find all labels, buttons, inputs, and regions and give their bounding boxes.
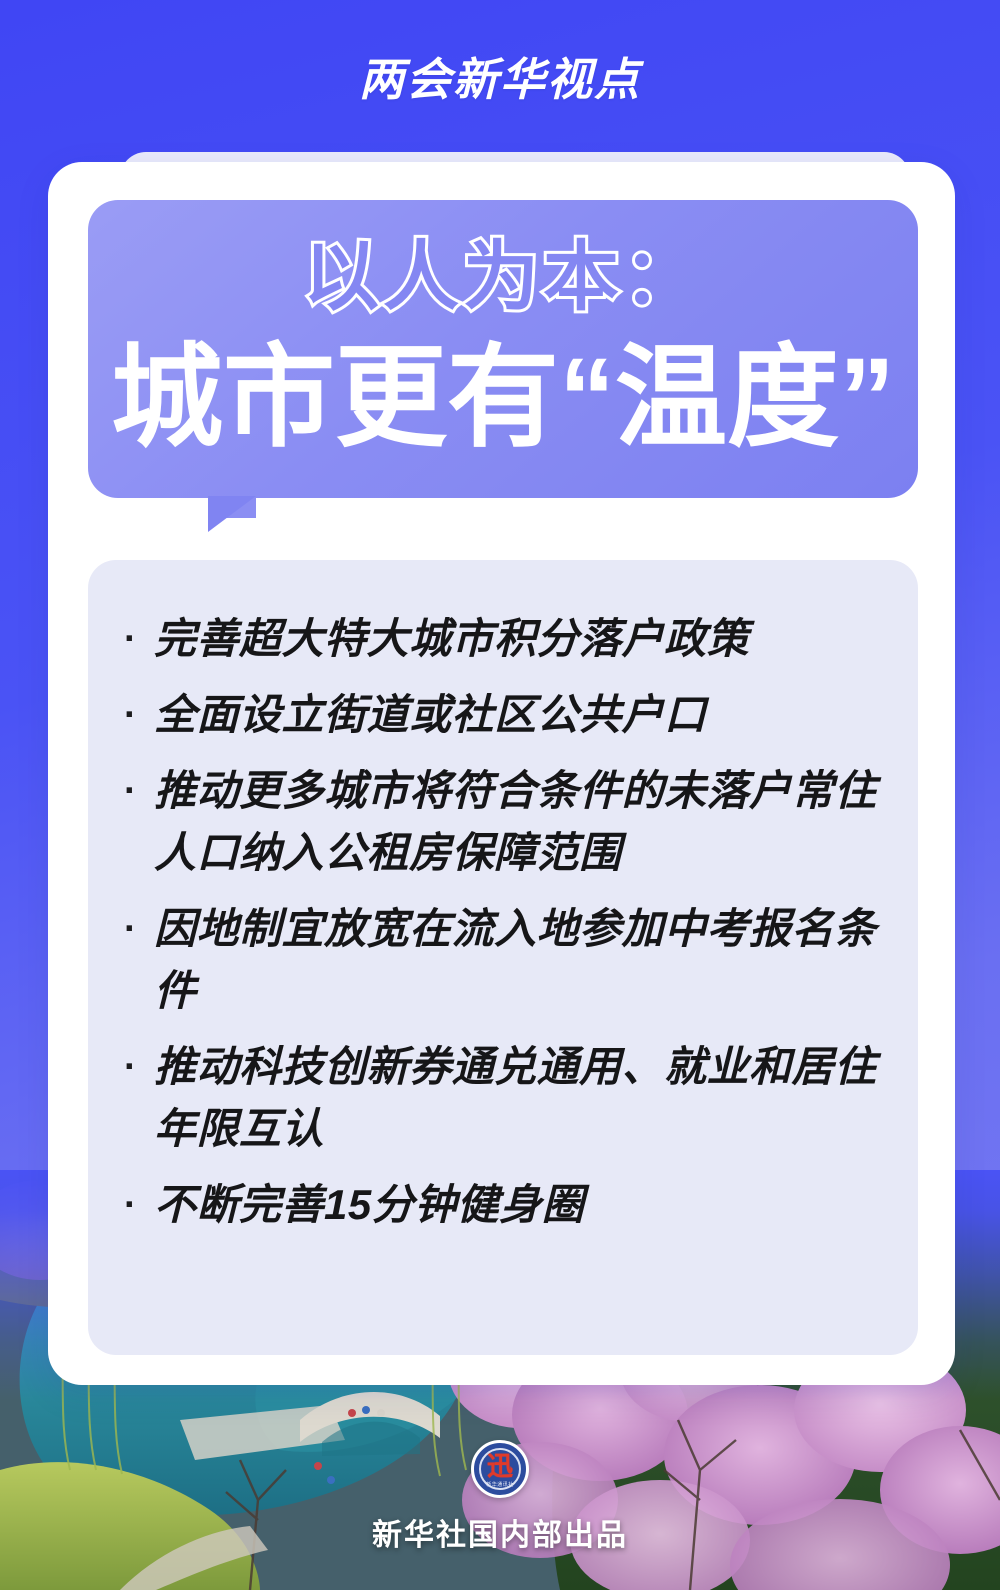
list-item: · 推动科技创新券通兑通用、就业和居住年限互认 [124,1036,894,1160]
bullet-marker-icon: · [124,898,154,960]
title-line-2: 城市更有“温度” [88,342,918,454]
list-item: · 不断完善15分钟健身圈 [124,1174,894,1236]
xinhua-logo-icon: 迅 新华通讯社 [471,1440,529,1498]
bullet-marker-icon: · [124,1036,154,1098]
header-title: 两会新华视点 [359,43,641,108]
bullet-list-panel: · 完善超大特大城市积分落户政策 · 全面设立街道或社区公共户口 · 推动更多城… [88,560,918,1355]
header: 两会新华视点 [0,0,1000,150]
bullet-marker-icon: · [124,608,154,670]
logo-glyph: 迅 [474,1451,526,1481]
bullet-text: 推动科技创新券通兑通用、就业和居住年限互认 [154,1036,894,1160]
bullet-text: 推动更多城市将符合条件的未落户常住人口纳入公租房保障范围 [154,760,894,884]
speech-bubble-tail [208,496,256,532]
title-speech-bubble: 以人为本： 城市更有“温度” [88,200,918,498]
content-card: 以人为本： 城市更有“温度” · 完善超大特大城市积分落户政策 · 全面设立街道… [48,162,955,1385]
bullet-marker-icon: · [124,760,154,822]
list-item: · 完善超大特大城市积分落户政策 [124,608,894,670]
poster-root: 两会新华视点 以人为本： 城市更有“温度” · 完善超大特大城市积分落户政策 ·… [0,0,1000,1590]
bullet-marker-icon: · [124,684,154,746]
bullet-list: · 完善超大特大城市积分落户政策 · 全面设立街道或社区公共户口 · 推动更多城… [124,608,894,1250]
list-item: · 全面设立街道或社区公共户口 [124,684,894,746]
footer-credit: 新华社国内部出品 [372,1510,628,1554]
title-line-1: 以人为本： [88,240,918,316]
footer: 迅 新华通讯社 新华社国内部出品 [0,1440,1000,1554]
list-item: · 因地制宜放宽在流入地参加中考报名条件 [124,898,894,1022]
list-item: · 推动更多城市将符合条件的未落户常住人口纳入公租房保障范围 [124,760,894,884]
bullet-text: 全面设立街道或社区公共户口 [154,684,894,746]
logo-subtext: 新华通讯社 [474,1481,526,1488]
bullet-text: 不断完善15分钟健身圈 [154,1174,894,1236]
bullet-marker-icon: · [124,1174,154,1236]
bullet-text: 完善超大特大城市积分落户政策 [154,608,894,670]
bullet-text: 因地制宜放宽在流入地参加中考报名条件 [154,898,894,1022]
